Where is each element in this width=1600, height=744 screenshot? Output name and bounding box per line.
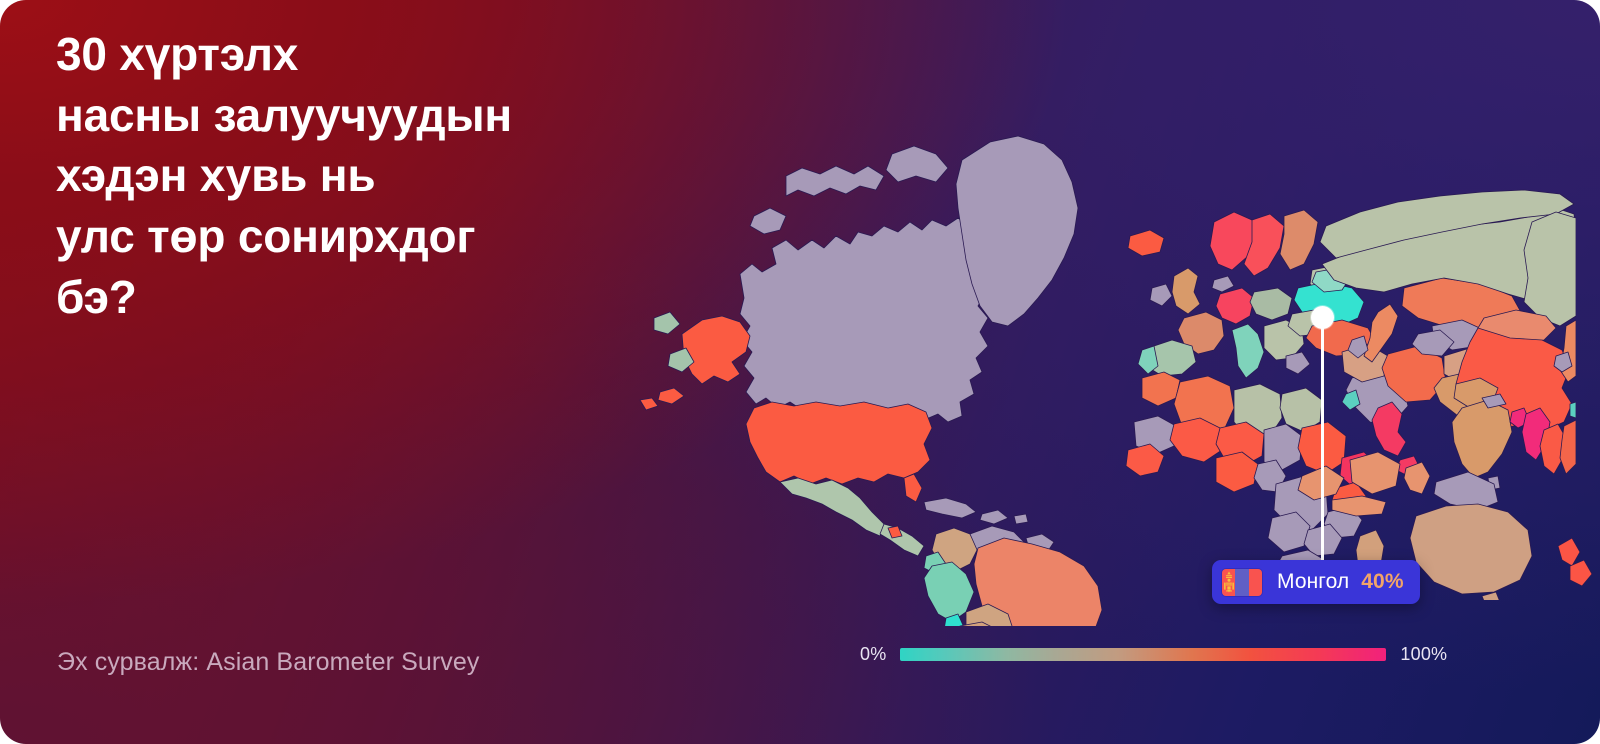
country-central-america [880, 524, 924, 556]
country-iceland [1128, 230, 1164, 256]
country-ireland [1150, 284, 1172, 306]
map-marker-dot[interactable] [1311, 306, 1334, 329]
color-scale-legend: 0% 100% [860, 644, 1447, 665]
country-new-zealand [1558, 538, 1580, 566]
map-marker-line [1321, 316, 1324, 568]
country-canada-island-3 [886, 146, 948, 182]
country-japan-detail [1364, 304, 1398, 362]
infographic-card: 30 хүртэлх насны залуучуудын хэдэн хувь … [0, 0, 1600, 744]
country-australia [1410, 504, 1532, 594]
tooltip-country-name: Монгол [1277, 570, 1349, 594]
country-cuba [924, 498, 976, 518]
country-usa-florida [904, 474, 922, 502]
country-taiwan-detail [1342, 390, 1360, 410]
country-indonesia-borneo [1350, 452, 1400, 494]
country-indonesia-java [1332, 496, 1386, 516]
map-tooltip[interactable]: Монгол 40% [1212, 560, 1420, 604]
flag-stripe-left [1222, 569, 1235, 596]
legend-min-label: 0% [860, 644, 886, 665]
country-united-kingdom [1172, 268, 1200, 314]
flag-stripe-center [1235, 569, 1248, 596]
country-alaska-aleutians [658, 388, 684, 404]
country-alaska-aleutians-2 [640, 398, 658, 410]
legend-gradient-bar [900, 648, 1386, 661]
tooltip-value: 40% [1361, 570, 1403, 594]
country-philippines [1372, 402, 1406, 456]
country-finland [1280, 210, 1318, 270]
country-canada-island-2 [750, 208, 786, 234]
country-morocco [1142, 372, 1180, 406]
soyombo-icon [1223, 571, 1234, 593]
country-tasmania [1482, 592, 1500, 600]
country-united-states [746, 402, 932, 484]
flag-stripe-right [1249, 569, 1262, 596]
country-puerto-rico [1014, 514, 1028, 524]
oceania-map-layer [1240, 300, 1600, 600]
country-denmark [1212, 276, 1234, 292]
legend-max-label: 100% [1400, 644, 1447, 665]
source-attribution: Эх сурвалж: Asian Barometer Survey [57, 648, 480, 677]
country-canada-islands [786, 166, 884, 196]
country-hispaniola [980, 510, 1008, 524]
country-canada [740, 218, 988, 422]
page-title: 30 хүртэлх насны залуучуудын хэдэн хувь … [56, 24, 696, 328]
mongolia-flag-icon [1222, 569, 1262, 596]
country-alaska [682, 316, 750, 384]
country-papua-new-guinea [1434, 472, 1498, 510]
country-mexico [780, 478, 884, 536]
country-alaska-panhandle [654, 312, 680, 334]
